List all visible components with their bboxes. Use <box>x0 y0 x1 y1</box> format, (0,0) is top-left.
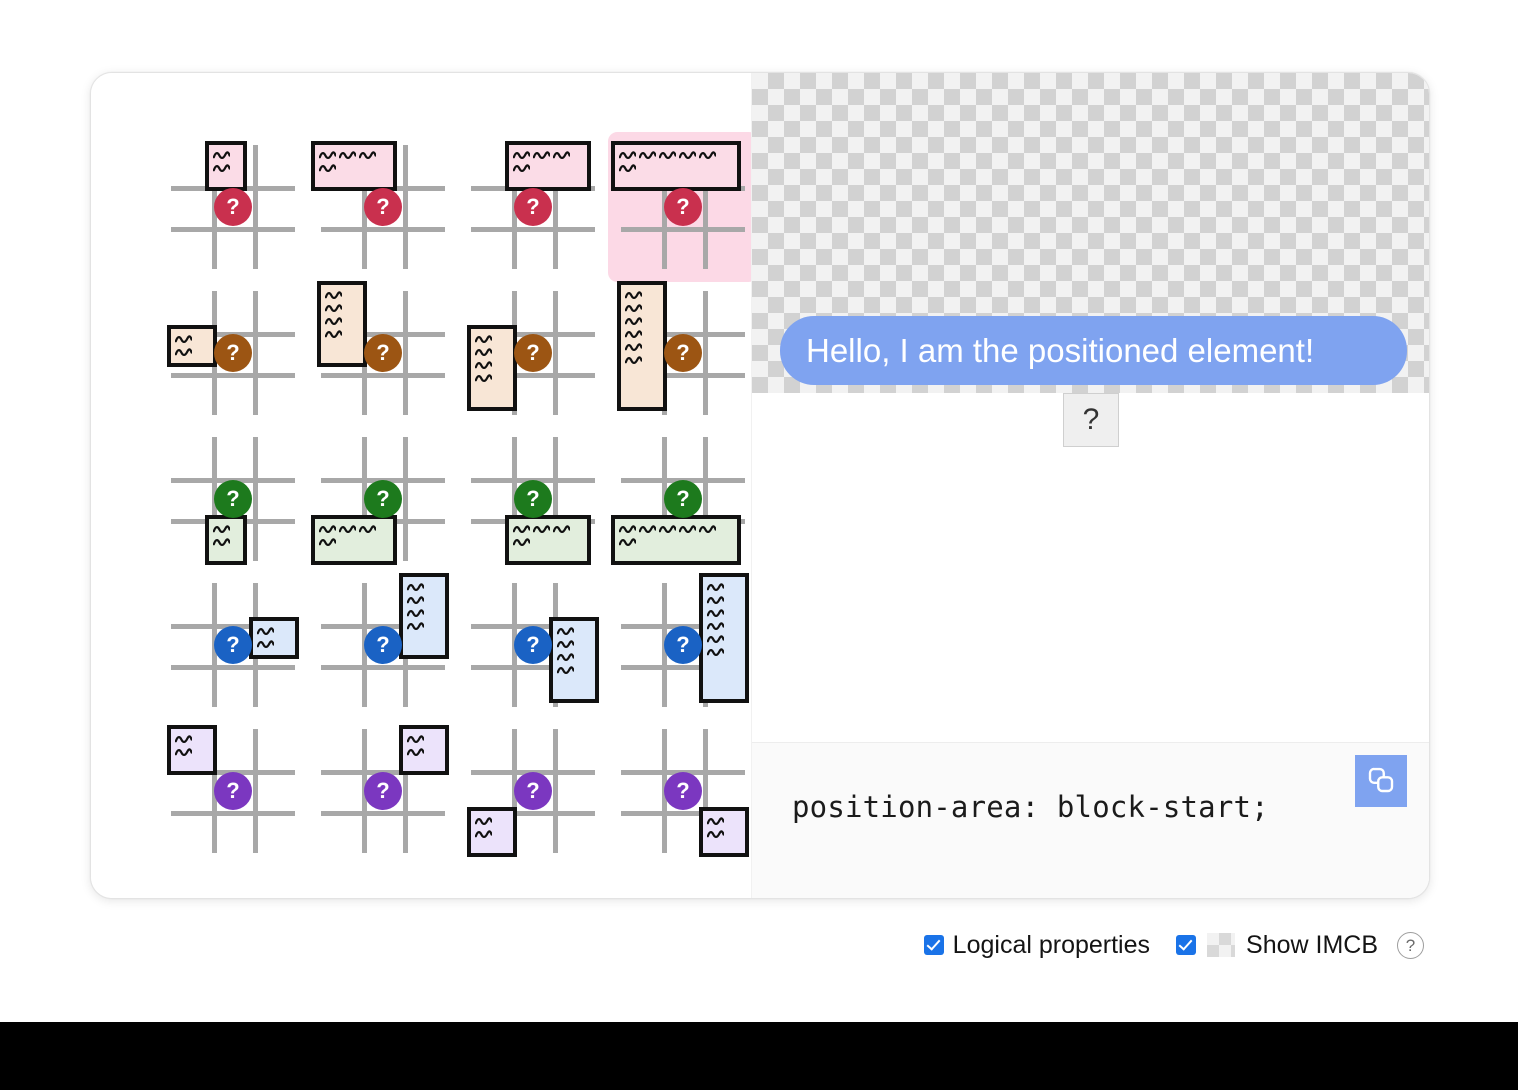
position-area-option[interactable]: ? <box>317 725 449 857</box>
position-area-option[interactable]: ? <box>617 141 749 273</box>
positioned-box <box>467 807 517 857</box>
page-root: ???????????????????? Hello, I am the pos… <box>0 0 1518 1090</box>
anchor-element-chip[interactable]: ? <box>1063 393 1119 447</box>
show-imcb-control[interactable]: Show IMCB ? <box>1176 931 1424 960</box>
logical-properties-control[interactable]: Logical properties <box>924 931 1150 960</box>
css-declaration: position-area: block-start; <box>792 790 1269 824</box>
position-area-option[interactable]: ? <box>167 579 299 711</box>
anchor-dot: ? <box>664 334 702 372</box>
preview-canvas: Hello, I am the positioned element! <box>752 73 1429 393</box>
logical-properties-checkbox[interactable] <box>924 935 944 955</box>
positioned-box <box>311 515 397 565</box>
positioned-box <box>205 515 247 565</box>
anchor-dot: ? <box>514 772 552 810</box>
copy-icon <box>1366 765 1396 798</box>
show-imcb-checkbox[interactable] <box>1176 935 1196 955</box>
positioned-box <box>167 725 217 775</box>
position-area-option-grid: ???????????????????? <box>167 141 749 857</box>
positioned-box <box>699 807 749 857</box>
show-imcb-label: Show IMCB <box>1246 931 1378 960</box>
copy-button[interactable] <box>1355 755 1407 807</box>
anchor-dot: ? <box>214 772 252 810</box>
positioned-box <box>399 725 449 775</box>
visualizer-card: ???????????????????? Hello, I am the pos… <box>90 72 1430 899</box>
positioned-box <box>311 141 397 191</box>
preview-panel: Hello, I am the positioned element! ? po… <box>751 73 1429 898</box>
position-area-option[interactable]: ? <box>467 579 599 711</box>
logical-properties-label: Logical properties <box>953 931 1150 960</box>
position-area-option[interactable]: ? <box>617 579 749 711</box>
positioned-box <box>505 515 591 565</box>
position-area-option[interactable]: ? <box>617 433 749 565</box>
positioned-box <box>611 515 741 565</box>
checkerboard-swatch-icon <box>1207 933 1235 957</box>
positioned-box <box>205 141 247 191</box>
position-area-option[interactable]: ? <box>167 141 299 273</box>
position-area-option[interactable]: ? <box>617 287 749 419</box>
anchor-dot: ? <box>214 334 252 372</box>
position-area-option[interactable]: ? <box>317 579 449 711</box>
anchor-dot: ? <box>514 480 552 518</box>
positioned-box <box>467 325 517 411</box>
anchor-dot: ? <box>514 334 552 372</box>
anchor-dot: ? <box>364 334 402 372</box>
position-area-option[interactable]: ? <box>467 287 599 419</box>
anchor-dot: ? <box>664 626 702 664</box>
anchor-dot: ? <box>664 188 702 226</box>
positioned-box <box>167 325 217 367</box>
anchor-dot: ? <box>514 188 552 226</box>
anchor-dot: ? <box>364 188 402 226</box>
position-area-option[interactable]: ? <box>317 433 449 565</box>
positioned-box <box>699 573 749 703</box>
help-icon[interactable]: ? <box>1397 932 1424 959</box>
footer-controls: Logical properties Show IMCB ? <box>0 922 1518 968</box>
anchor-dot: ? <box>214 188 252 226</box>
code-output-panel: position-area: block-start; <box>752 742 1429 898</box>
position-area-options-panel: ???????????????????? <box>91 73 751 898</box>
anchor-dot: ? <box>364 480 402 518</box>
positioned-element-bubble: Hello, I am the positioned element! <box>780 316 1407 385</box>
positioned-box <box>549 617 599 703</box>
anchor-dot: ? <box>214 626 252 664</box>
positioned-box <box>505 141 591 191</box>
anchor-dot: ? <box>514 626 552 664</box>
positioned-box <box>617 281 667 411</box>
position-area-option[interactable]: ? <box>617 725 749 857</box>
positioned-box <box>399 573 449 659</box>
anchor-dot: ? <box>364 626 402 664</box>
position-area-option[interactable]: ? <box>167 725 299 857</box>
position-area-option[interactable]: ? <box>167 433 299 565</box>
position-area-option[interactable]: ? <box>317 141 449 273</box>
position-area-option[interactable]: ? <box>467 141 599 273</box>
position-area-option[interactable]: ? <box>317 287 449 419</box>
position-area-option[interactable]: ? <box>167 287 299 419</box>
positioned-box <box>249 617 299 659</box>
positioned-box <box>317 281 367 367</box>
positioned-box <box>611 141 741 191</box>
anchor-dot: ? <box>364 772 402 810</box>
bottom-bar <box>0 1022 1518 1090</box>
anchor-dot: ? <box>664 480 702 518</box>
anchor-dot: ? <box>214 480 252 518</box>
anchor-dot: ? <box>664 772 702 810</box>
position-area-option[interactable]: ? <box>467 433 599 565</box>
position-area-option[interactable]: ? <box>467 725 599 857</box>
